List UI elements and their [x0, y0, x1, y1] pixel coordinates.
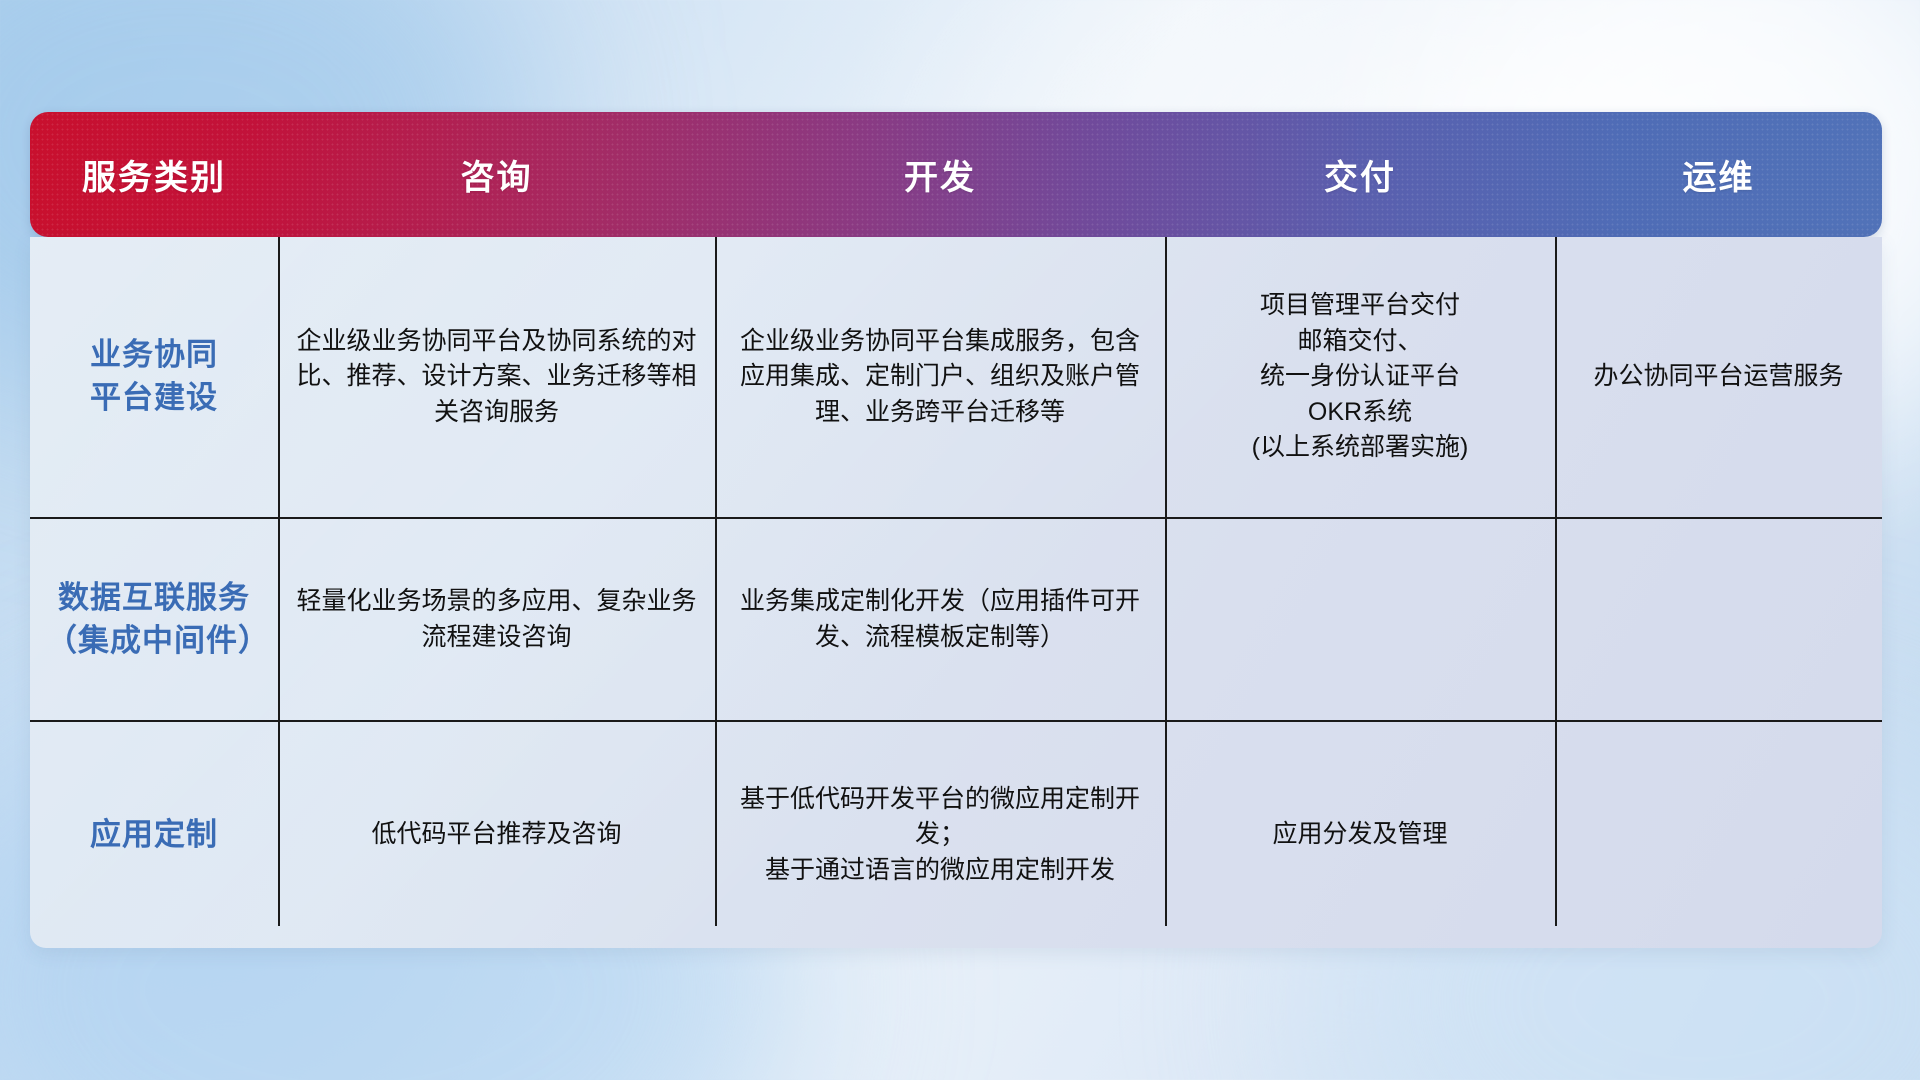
cell-development: 业务集成定制化开发（应用插件可开发、流程模板定制等）: [715, 519, 1165, 720]
table-row: 业务协同 平台建设 企业级业务协同平台及协同系统的对比、推荐、设计方案、业务迁移…: [30, 237, 1882, 517]
cell-operations: 办公协同平台运营服务: [1555, 237, 1882, 517]
table-body: 业务协同 平台建设 企业级业务协同平台及协同系统的对比、推荐、设计方案、业务迁移…: [30, 237, 1882, 948]
column-header-consulting: 咨询: [278, 112, 715, 237]
table-row: 应用定制 低代码平台推荐及咨询 基于低代码开发平台的微应用定制开发； 基于通过语…: [30, 720, 1882, 948]
table-header-row: 服务类别 咨询 开发 交付 运维: [30, 112, 1882, 237]
column-header-development: 开发: [715, 112, 1165, 237]
cell-delivery: 项目管理平台交付 邮箱交付、 统一身份认证平台 OKR系统 (以上系统部署实施): [1165, 237, 1555, 517]
row-category-label: 业务协同 平台建设: [30, 237, 278, 517]
cell-development: 企业级业务协同平台集成服务，包含应用集成、定制门户、组织及账户管理、业务跨平台迁…: [715, 237, 1165, 517]
cell-consulting: 低代码平台推荐及咨询: [278, 722, 715, 948]
cell-operations: [1555, 722, 1882, 948]
cell-delivery: [1165, 519, 1555, 720]
service-matrix-table: 服务类别 咨询 开发 交付 运维 业务协同 平台建设 企业级业务协同平台及协同系…: [30, 112, 1882, 948]
column-header-category: 服务类别: [30, 112, 278, 237]
row-category-label: 应用定制: [30, 722, 278, 948]
row-category-label: 数据互联服务 （集成中间件）: [30, 519, 278, 720]
column-header-delivery: 交付: [1165, 112, 1555, 237]
column-header-operations: 运维: [1555, 112, 1882, 237]
cell-delivery: 应用分发及管理: [1165, 722, 1555, 948]
cell-consulting: 企业级业务协同平台及协同系统的对比、推荐、设计方案、业务迁移等相关咨询服务: [278, 237, 715, 517]
cell-development: 基于低代码开发平台的微应用定制开发； 基于通过语言的微应用定制开发: [715, 722, 1165, 948]
cell-operations: [1555, 519, 1882, 720]
table-row: 数据互联服务 （集成中间件） 轻量化业务场景的多应用、复杂业务流程建设咨询 业务…: [30, 517, 1882, 720]
cell-consulting: 轻量化业务场景的多应用、复杂业务流程建设咨询: [278, 519, 715, 720]
